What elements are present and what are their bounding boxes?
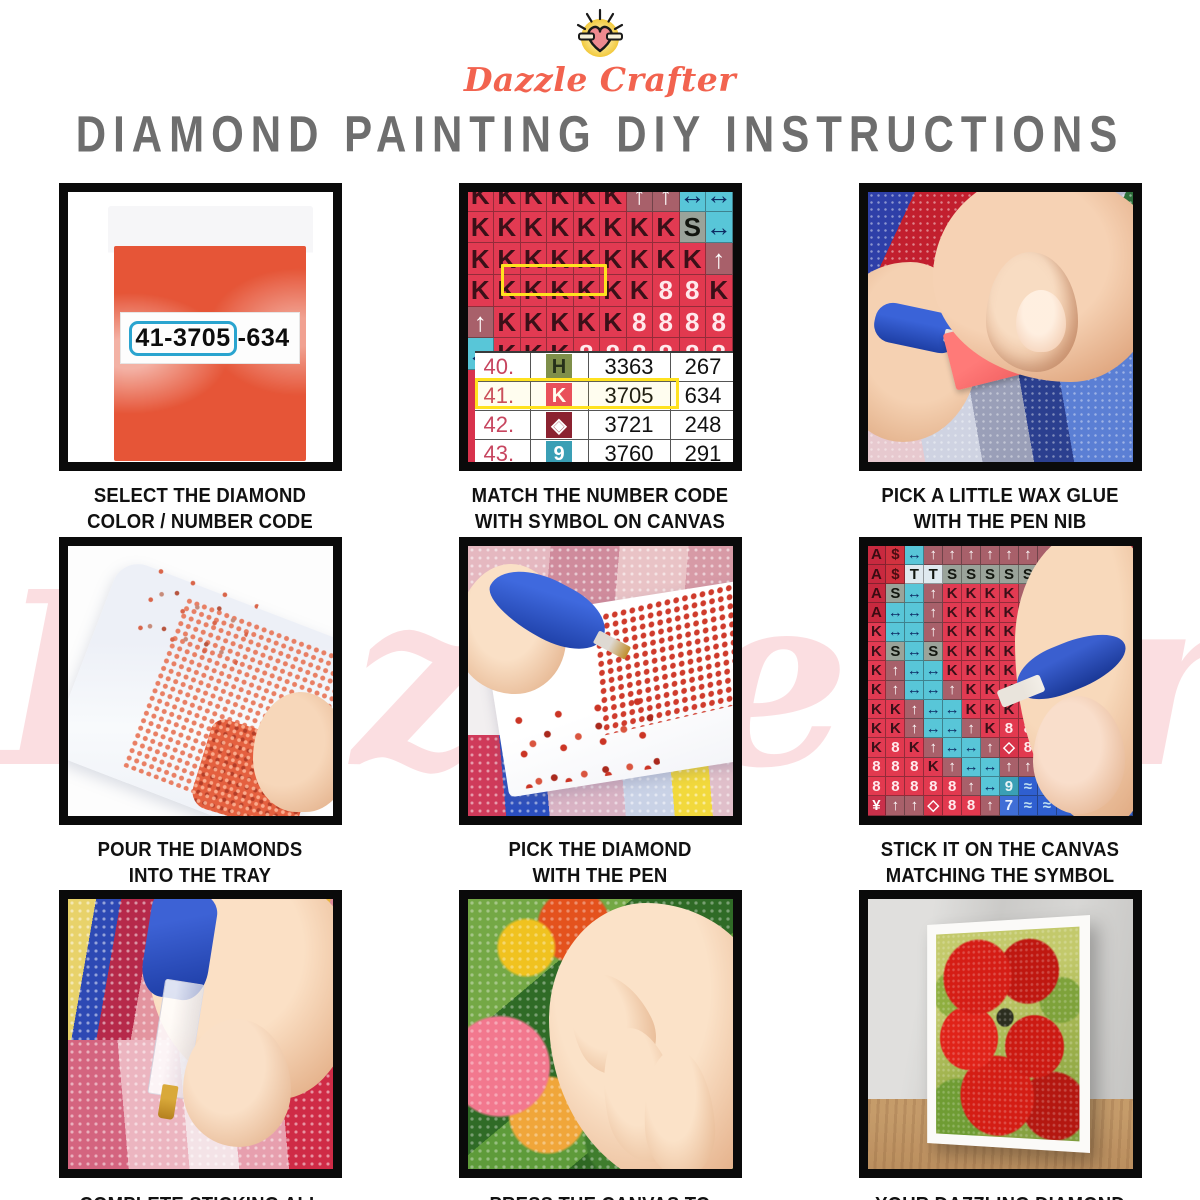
grid-cell: ◇ [1000, 738, 1019, 757]
grid-cell: K [627, 275, 654, 307]
grid-cell: K [962, 603, 981, 622]
step-1: 41-3705-634 SELECT THE DIAMOND COLOR / N… [10, 183, 390, 529]
grid-cell: K [886, 700, 905, 719]
step-8-caption: PRESS THE CANVAS TO FIX ALL DIAMONDS [489, 1191, 710, 1200]
grid-cell: 8 [680, 307, 707, 339]
grid-cell: 8 [868, 758, 887, 777]
grid-cell: K [981, 661, 1000, 680]
grid-cell: K [468, 212, 495, 244]
step-2-caption: MATCH THE NUMBER CODE WITH SYMBOL ON CAN… [472, 482, 729, 534]
grid-cell: K [962, 661, 981, 680]
highlighted-color-code: 41-3705 [129, 321, 236, 356]
grid-cell: ↔ [886, 603, 905, 622]
grid-cell: ↑ [981, 738, 1000, 757]
legend-dmc-code: 3760 [589, 440, 671, 462]
legend-dmc-code: 3721 [589, 411, 671, 440]
grid-cell: K [653, 243, 680, 275]
grid-cell: K [981, 700, 1000, 719]
legend-number: 43. [475, 440, 531, 462]
grid-cell: ↑ [924, 623, 943, 642]
grid-cell: 8 [627, 307, 654, 339]
grid-cell: ◇ [924, 796, 943, 815]
grid-cell: K [468, 243, 495, 275]
page-title: DIAMOND PAINTING DIY INSTRUCTIONS [0, 105, 1200, 164]
grid-cell: S [981, 565, 1000, 584]
grid-cell: A [868, 565, 887, 584]
step-7-caption: COMPLETE STICKING ALL COLOR DIAMONDS [80, 1191, 321, 1200]
step-3: PICK A LITTLE WAX GLUE WITH THE PEN NIB [810, 183, 1190, 529]
grid-cell: ↔ [886, 623, 905, 642]
grid-cell: ↔ [924, 719, 943, 738]
grid-cell: K [868, 700, 887, 719]
grid-cell: ↔ [943, 719, 962, 738]
grid-cell: 8 [868, 777, 887, 796]
grid-cell: S [962, 565, 981, 584]
grid-cell: ↔ [905, 681, 924, 700]
step-4-image [59, 537, 342, 825]
grid-cell: 9 [1000, 777, 1019, 796]
grid-cell: ↑ [962, 777, 981, 796]
grid-cell: 7 [1000, 796, 1019, 815]
grid-cell: 8 [905, 777, 924, 796]
grid-cell: T [924, 565, 943, 584]
grid-cell: A [868, 584, 887, 603]
grid-cell: ↑ [943, 681, 962, 700]
grid-cell: K [868, 623, 887, 642]
grid-cell: K [468, 192, 495, 212]
grid-cell: 8 [943, 777, 962, 796]
grid-cell: K [521, 192, 548, 212]
grid-cell: ↔ [962, 758, 981, 777]
grid-cell: ↑ [886, 661, 905, 680]
grid-cell: K [680, 243, 707, 275]
step-6-caption: STICK IT ON THE CANVAS MATCHING THE SYMB… [881, 836, 1119, 888]
grid-cell: ≈ [1019, 796, 1038, 815]
grid-cell: K [868, 661, 887, 680]
grid-cell: K [653, 212, 680, 244]
instruction-poster: Dazzle Crafter [0, 0, 1200, 1200]
grid-cell: ↑ [962, 719, 981, 738]
grid-cell: K [627, 212, 654, 244]
step-5-caption: PICK THE DIAMOND WITH THE PEN [508, 836, 691, 888]
grid-cell: 8 [653, 307, 680, 339]
grid-cell: K [962, 700, 981, 719]
grid-cell: S [943, 565, 962, 584]
grid-cell: A [868, 546, 887, 565]
legend-number: 42. [475, 411, 531, 440]
step-2: KKKKKK↑↑↔↔KKKKKKKKS↔KKKKKKKKK↑KKKKKKK88K… [410, 183, 790, 529]
grid-cell: K [600, 212, 627, 244]
legend-count: 634 [671, 382, 733, 411]
step-7-image [59, 890, 342, 1178]
legend-count: 248 [671, 411, 733, 440]
legend-count: 267 [671, 353, 733, 382]
grid-cell: ↔ [981, 777, 1000, 796]
legend-count: 291 [671, 440, 733, 462]
grid-cell: K [468, 275, 495, 307]
grid-cell: K [868, 681, 887, 700]
grid-cell: S [886, 584, 905, 603]
step-9: YOUR DAZZLING DIAMOND ART IS FINISHED ! [810, 890, 1190, 1200]
legend-row: 42.◈3721248 [475, 411, 733, 440]
grid-cell: K [943, 623, 962, 642]
grid-cell: K [547, 192, 574, 212]
brand-name: Dazzle Crafter [0, 60, 1200, 99]
grid-cell: K [494, 307, 521, 339]
grid-cell: K [521, 212, 548, 244]
grid-cell: K [905, 738, 924, 757]
grid-cell: ↑ [886, 796, 905, 815]
grid-cell: K [962, 584, 981, 603]
step-1-caption: SELECT THE DIAMOND COLOR / NUMBER CODE [87, 482, 313, 534]
grid-cell: K [600, 307, 627, 339]
step-3-caption: PICK A LITTLE WAX GLUE WITH THE PEN NIB [881, 482, 1118, 534]
grid-cell: ↑ [924, 546, 943, 565]
grid-cell: K [962, 623, 981, 642]
grid-cell: K [981, 719, 1000, 738]
grid-cell: ↑ [1000, 758, 1019, 777]
grid-cell: ↑ [943, 546, 962, 565]
step-9-caption: YOUR DAZZLING DIAMOND ART IS FINISHED ! [875, 1191, 1125, 1200]
step-1-image: 41-3705-634 [59, 183, 342, 471]
grid-cell: K [574, 212, 601, 244]
grid-cell: 8 [962, 796, 981, 815]
grid-cell: K [547, 212, 574, 244]
step-2-image: KKKKKK↑↑↔↔KKKKKKKKS↔KKKKKKKKK↑KKKKKKK88K… [459, 183, 742, 471]
grid-cell: K [494, 212, 521, 244]
canvas-highlight-box [501, 264, 607, 296]
grid-cell: ↔ [905, 661, 924, 680]
heart-with-pen-sunburst-icon [573, 8, 627, 60]
step-8-image [459, 890, 742, 1178]
grid-cell: ↑ [962, 546, 981, 565]
grid-cell: K [981, 623, 1000, 642]
step-4: POUR THE DIAMONDS INTO THE TRAY [10, 537, 390, 883]
step-8: PRESS THE CANVAS TO FIX ALL DIAMONDS [410, 890, 790, 1200]
grid-cell: ↔ [905, 584, 924, 603]
grid-cell: S [680, 212, 707, 244]
logo-container [0, 6, 1200, 62]
grid-cell: ↑ [468, 307, 495, 339]
legend-symbol: 9 [531, 440, 589, 462]
grid-cell: K [627, 243, 654, 275]
grid-cell: K [494, 192, 521, 212]
grid-cell: 8 [886, 758, 905, 777]
grid-cell: ↑ [1000, 546, 1019, 565]
legend-highlight-box [475, 378, 679, 409]
grid-cell: ↔ [962, 738, 981, 757]
grid-cell: 8 [943, 796, 962, 815]
grid-cell: ↔ [706, 192, 733, 212]
grid-cell: 8 [905, 758, 924, 777]
grid-cell: 8 [1000, 719, 1019, 738]
grid-cell: K [981, 584, 1000, 603]
step-7: COMPLETE STICKING ALL COLOR DIAMONDS [10, 890, 390, 1200]
grid-cell: ↔ [905, 623, 924, 642]
legend-symbol: ◈ [531, 411, 589, 440]
grid-cell: ↑ [981, 546, 1000, 565]
grid-cell: ↑ [905, 719, 924, 738]
grid-cell: 8 [706, 307, 733, 339]
grid-cell: K [943, 661, 962, 680]
grid-cell: K [868, 719, 887, 738]
grid-cell: ↔ [924, 661, 943, 680]
grid-cell: K [962, 642, 981, 661]
grid-cell: ↑ [981, 796, 1000, 815]
label-code-suffix: -634 [238, 324, 290, 352]
grid-cell: 8 [653, 275, 680, 307]
grid-cell: ↔ [680, 192, 707, 212]
grid-cell: ↔ [924, 681, 943, 700]
grid-cell: A [868, 603, 887, 622]
poster-header: Dazzle Crafter DIAMOND PAINTING DIY INST… [0, 0, 1200, 153]
grid-cell: K [521, 307, 548, 339]
grid-cell: ↔ [943, 738, 962, 757]
grid-cell: ↔ [905, 642, 924, 661]
grid-cell: K [600, 192, 627, 212]
grid-cell: ↑ [1019, 546, 1038, 565]
grid-cell: K [924, 758, 943, 777]
grid-cell: ↑ [924, 584, 943, 603]
picture-frame [927, 915, 1090, 1153]
grid-cell: K [943, 642, 962, 661]
grid-cell: ↑ [706, 243, 733, 275]
grid-cell: 8 [680, 275, 707, 307]
finger [183, 1019, 291, 1147]
grid-cell: 8 [924, 777, 943, 796]
grid-cell: ↑ [905, 796, 924, 815]
step-6-image: A$↔↑↑↑↑↑↑↑↑↑KKA$TTSSSSS↔↔S↔KAS↔↑KKKK↑↔↔↔… [859, 537, 1142, 825]
grid-cell: S [924, 642, 943, 661]
grid-cell: $ [886, 546, 905, 565]
grid-cell: 8 [886, 738, 905, 757]
grid-cell: ↑ [905, 700, 924, 719]
legend-row: 43.93760291 [475, 440, 733, 462]
grid-cell: K [943, 603, 962, 622]
step-5: PICK THE DIAMOND WITH THE PEN [410, 537, 790, 883]
grid-cell: ↑ [627, 192, 654, 212]
steps-grid: 41-3705-634 SELECT THE DIAMOND COLOR / N… [0, 183, 1200, 1200]
grid-cell: K [1000, 584, 1019, 603]
drill-bag-label: 41-3705-634 [120, 312, 300, 364]
grid-cell: 8 [886, 777, 905, 796]
grid-cell: ↔ [706, 212, 733, 244]
step-6: A$↔↑↑↑↑↑↑↑↑↑KKA$TTSSSSS↔↔S↔KAS↔↑KKKK↑↔↔↔… [810, 537, 1190, 883]
step-4-caption: POUR THE DIAMONDS INTO THE TRAY [98, 836, 303, 888]
grid-cell: K [981, 642, 1000, 661]
grid-cell: ↑ [653, 192, 680, 212]
grid-cell: K [886, 719, 905, 738]
grid-cell: ↔ [924, 700, 943, 719]
fingernail [1016, 290, 1066, 352]
grid-cell: ↔ [905, 546, 924, 565]
grid-cell: ≈ [1019, 777, 1038, 796]
grid-cell: S [1000, 565, 1019, 584]
grid-cell: ↑ [924, 603, 943, 622]
step-5-image [459, 537, 742, 825]
step-3-image [859, 183, 1142, 471]
grid-cell: K [547, 307, 574, 339]
grid-cell: T [905, 565, 924, 584]
grid-cell: K [706, 275, 733, 307]
grid-cell: ↔ [905, 603, 924, 622]
grid-cell: $ [886, 565, 905, 584]
grid-cell: ↑ [886, 681, 905, 700]
step-9-image [859, 890, 1142, 1178]
poppy-artwork [936, 927, 1079, 1142]
grid-cell: K [868, 642, 887, 661]
grid-cell: K [574, 307, 601, 339]
grid-cell: ↑ [924, 738, 943, 757]
grid-cell: ↔ [943, 700, 962, 719]
grid-cell: K [574, 192, 601, 212]
grid-cell: ¥ [868, 796, 887, 815]
grid-cell: ↑ [943, 758, 962, 777]
grid-cell: ↔ [981, 758, 1000, 777]
grid-cell: K [962, 681, 981, 700]
grid-cell: S [886, 642, 905, 661]
grid-cell: K [981, 603, 1000, 622]
grid-cell: K [868, 738, 887, 757]
grid-cell: K [943, 584, 962, 603]
